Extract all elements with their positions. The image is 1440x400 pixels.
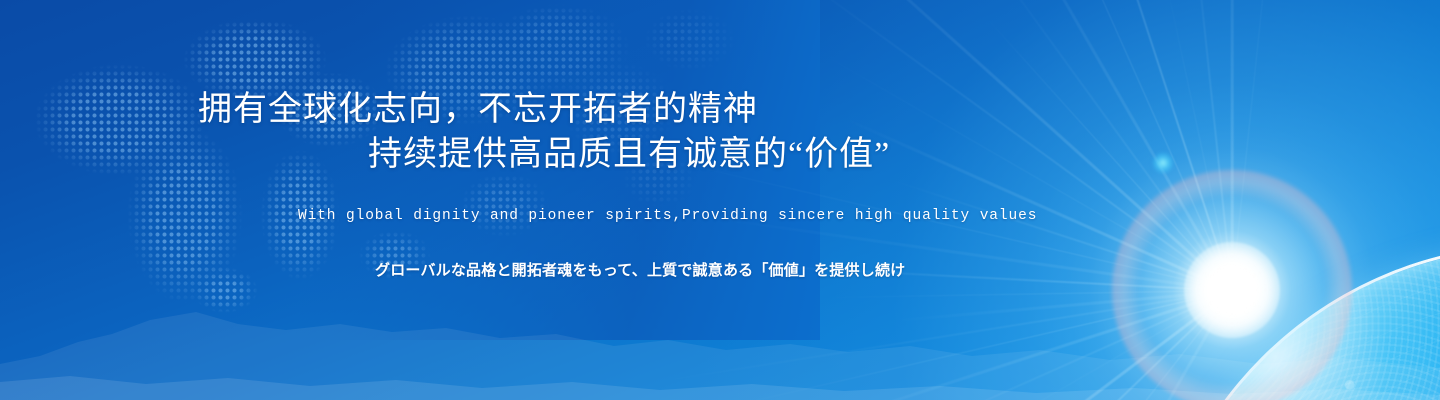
headline-line-2: 持续提供高品质且有诚意的“价值” (368, 138, 890, 172)
subtitle-japanese: グローバルな品格と開拓者魂をもって、上質で誠意ある「価値」を提供し続け (375, 260, 905, 280)
subtitle-english: With global dignity and pioneer spirits,… (298, 207, 1037, 225)
headline-line-1: 拥有全球化志向，不忘开拓者的精神 (198, 93, 758, 127)
banner-text: 拥有全球化志向，不忘开拓者的精神 持续提供高品质且有诚意的“价值” With g… (0, 0, 1440, 400)
hero-banner: 拥有全球化志向，不忘开拓者的精神 持续提供高品质且有诚意的“价值” With g… (0, 0, 1440, 400)
